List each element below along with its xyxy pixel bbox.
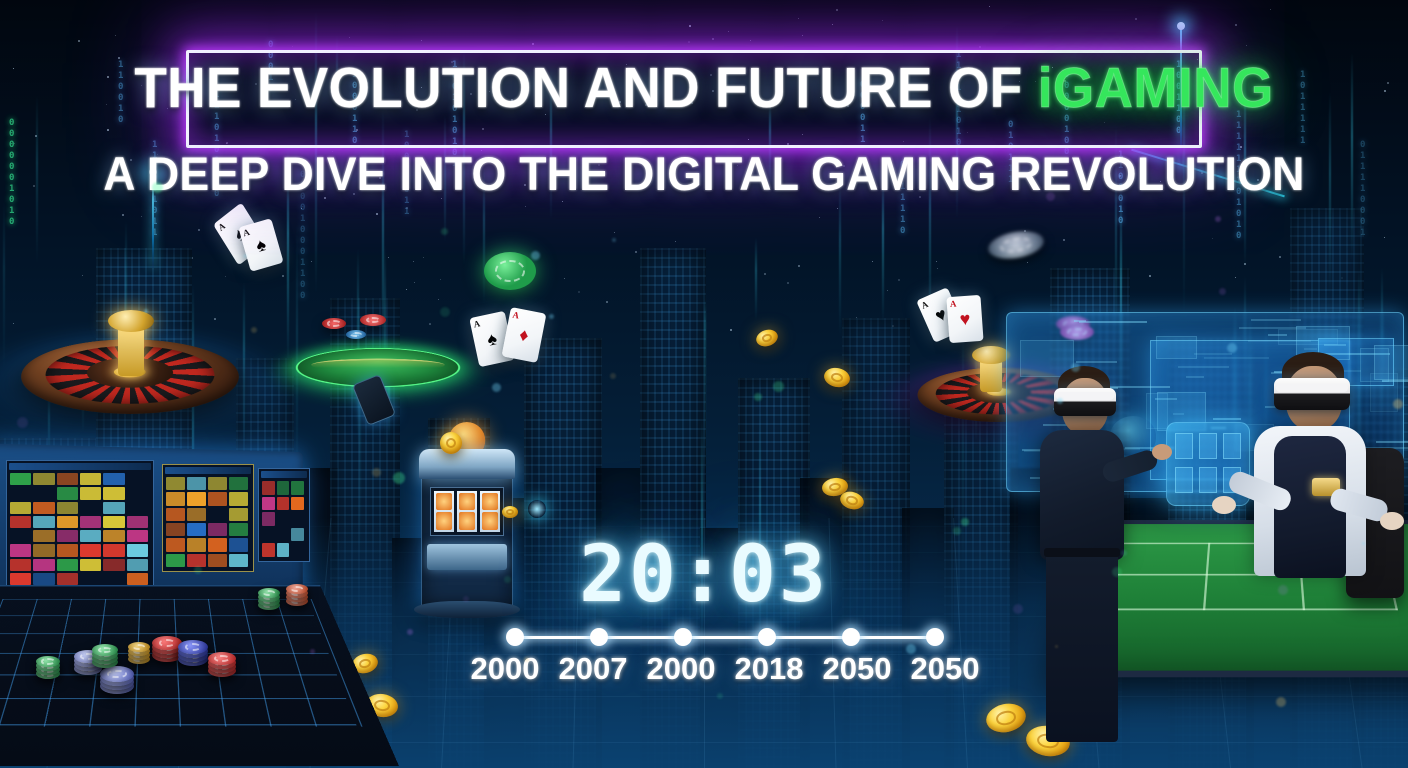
betting-grid-line [0, 615, 314, 616]
star [13, 68, 14, 69]
bokeh-dot [1055, 645, 1058, 648]
star [532, 43, 534, 45]
monitor-game-tile [10, 502, 31, 514]
monitor-game-tile [33, 473, 54, 485]
monitor-game-tile [291, 481, 304, 495]
holographic-panel-block [1156, 336, 1197, 359]
card-suit: ♠ [485, 329, 498, 349]
timeline-dot-1[interactable] [590, 628, 608, 646]
card-suit: ♥ [959, 310, 971, 329]
star [979, 46, 981, 48]
light-streak [3, 199, 5, 372]
star [882, 20, 883, 21]
card-suit: ♠ [254, 235, 268, 255]
bokeh-dot [1013, 604, 1023, 614]
star [798, 18, 799, 19]
bokeh-dot [1227, 343, 1237, 353]
roulette-turret-left [108, 310, 154, 332]
monitor-game-tile [33, 516, 54, 528]
bokeh-dot [1276, 697, 1286, 707]
slot-side-light [528, 500, 546, 518]
betting-grid-line [0, 698, 346, 699]
chip-stack-blue [178, 640, 208, 654]
bokeh-dot [1393, 399, 1403, 409]
bokeh-dot [754, 393, 762, 401]
star [688, 41, 690, 43]
poker-table-betting-arc [309, 358, 447, 371]
bokeh-dot [251, 327, 257, 333]
slot-reel [457, 491, 477, 532]
monitor-game-tile [80, 487, 101, 499]
bokeh-dot [1057, 398, 1063, 404]
chip-blue-table [346, 330, 366, 339]
betting-grid-line [276, 599, 317, 727]
holographic-text-line [1186, 376, 1204, 378]
monitor-game-tile [80, 473, 101, 485]
bokeh-dot [144, 309, 148, 313]
chip-red-table-2 [360, 314, 386, 326]
monitor-game-tile [291, 497, 304, 511]
bokeh-dot [407, 629, 413, 635]
bokeh-dot [961, 518, 969, 526]
star [750, 40, 751, 41]
chip-gold-small [128, 642, 150, 652]
monitor-game-tile [262, 497, 275, 511]
betting-grid-line [242, 599, 272, 727]
bokeh-dot [17, 417, 28, 428]
chip-stack-green [92, 644, 118, 656]
page-subtitle: A DEEP DIVE INTO THE DIGITAL GAMING REVO… [35, 150, 1373, 197]
page-title: THE EVOLUTION AND FUTURE OF iGAMING [49, 60, 1358, 117]
holographic-text-line [1251, 319, 1301, 321]
timeline-label-0: 2000 [471, 650, 540, 688]
bokeh-dot [1112, 567, 1122, 577]
vr-headset-strap [1056, 392, 1114, 400]
timeline-label-1: 2007 [559, 650, 628, 688]
timeline-dot-0[interactable] [506, 628, 524, 646]
monitor-game-tile [229, 492, 248, 505]
light-streak [755, 237, 757, 321]
betting-grid-line [0, 724, 357, 725]
star [689, 25, 691, 27]
monitor-game-tile [208, 523, 227, 536]
monitor-game-tile [187, 523, 206, 536]
star [1387, 82, 1389, 84]
dealer-hand-right [1380, 512, 1404, 530]
slot-reel [480, 491, 500, 532]
timeline-dot-4[interactable] [842, 628, 860, 646]
timeline-label-3: 2018 [735, 650, 804, 688]
monitor-game-tile [229, 523, 248, 536]
holographic-text-line [1194, 353, 1232, 355]
star [1384, 90, 1386, 92]
star [1270, 9, 1271, 10]
timeline-dot-2[interactable] [674, 628, 692, 646]
monitor-game-tile [80, 516, 101, 528]
evolution-timeline [505, 628, 945, 646]
vr-dealer-right [1234, 344, 1384, 704]
star [832, 24, 833, 25]
monitor-game-tile [187, 477, 206, 490]
bokeh-dot [612, 238, 616, 242]
bokeh-dot [463, 596, 469, 602]
binary-code-column: 0 0 0 0 0 0 1 0 1 0 [9, 118, 23, 228]
monitor-game-tile [208, 477, 227, 490]
bokeh-dot [243, 254, 247, 258]
star [349, 37, 350, 38]
bokeh-dot [1121, 550, 1127, 556]
bokeh-dot [773, 381, 784, 392]
star [712, 38, 714, 40]
monitor-game-tile [277, 497, 290, 511]
bokeh-dot [440, 307, 450, 317]
card-rank: A [473, 319, 481, 329]
bokeh-dot [1071, 363, 1080, 372]
card-rank: A [242, 228, 251, 238]
star [728, 31, 729, 32]
bokeh-dot [531, 251, 540, 260]
monitor-game-tile [277, 481, 290, 495]
monitor-game-tile [127, 516, 148, 528]
gold-coin [502, 506, 518, 518]
chip-green-small [36, 656, 60, 667]
monitor-game-tile [166, 508, 185, 521]
chip-green-floating [484, 252, 536, 290]
monitor-game-tile [262, 481, 275, 495]
card-rank: A [950, 300, 957, 309]
monitor-game-tile [57, 473, 78, 485]
monitor-game-tile [57, 487, 78, 499]
monitor-game-tile [103, 516, 124, 528]
star [118, 57, 120, 59]
monitor-game-tile [57, 502, 78, 514]
bokeh-dot [953, 527, 961, 535]
monitor-game-tile [208, 492, 227, 505]
monitor-game-tile [166, 492, 185, 505]
bokeh-dot [492, 383, 501, 392]
light-streak [704, 287, 706, 472]
monitor-game-tile [262, 512, 275, 526]
star [802, 35, 803, 36]
monitor-game-tile [10, 473, 31, 485]
monitor-game-tile [10, 516, 31, 528]
title-highlight-text: iGAMING [1038, 56, 1274, 120]
monitor-game-tile [166, 523, 185, 536]
bokeh-dot [194, 566, 202, 574]
bokeh-dot [610, 373, 616, 379]
digital-clock-display: 20:03 [0, 536, 1408, 614]
monitor-header-bar [261, 471, 307, 478]
bokeh-dot [310, 649, 315, 654]
slot-machine-reels [430, 487, 505, 536]
chip-stack-red-2 [208, 652, 236, 665]
gold-coin [440, 432, 462, 454]
monitor-game-tile [229, 477, 248, 490]
star [292, 46, 293, 47]
timeline-label-2: 2000 [647, 650, 716, 688]
timeline-axis-line [515, 636, 935, 639]
star [989, 6, 990, 7]
card-suit: ♦ [518, 325, 530, 344]
slot-reel [434, 491, 454, 532]
bokeh-dot [372, 468, 381, 477]
bokeh-dot [1278, 585, 1288, 595]
neon-spire-tip [1177, 22, 1185, 30]
betting-grid-line [0, 633, 321, 634]
card-rank: A [217, 221, 227, 233]
hero-banner: 0 0 0 0 0 0 1 0 1 01 1 0 0 1 0 1 1 0 0 0… [0, 0, 1408, 768]
monitor-header-bar [165, 467, 251, 474]
card-rank: A [920, 300, 930, 311]
monitor-game-tile [166, 477, 185, 490]
timeline-dot-5[interactable] [926, 628, 944, 646]
bokeh-dot [549, 314, 554, 319]
chip-stack-white-blue [100, 666, 134, 682]
timeline-dot-3[interactable] [758, 628, 776, 646]
monitor-game-tile [187, 508, 206, 521]
vr-headset-dealer [1274, 378, 1350, 410]
star [1135, 18, 1137, 20]
betting-grid-line [0, 599, 38, 727]
card-rank: A [512, 311, 520, 321]
bokeh-dot [1219, 288, 1226, 295]
holographic-text-line [1178, 366, 1229, 368]
bokeh-dot [1362, 542, 1365, 545]
star [836, 9, 838, 11]
bokeh-dot [441, 228, 448, 235]
star [421, 40, 422, 41]
monitor-game-tile [57, 516, 78, 528]
monitor-game-tile [103, 487, 124, 499]
monitor-game-tile [33, 502, 54, 514]
star [1246, 45, 1247, 46]
monitor-game-tile [229, 508, 248, 521]
timeline-label-5: 2050 [911, 650, 980, 688]
timeline-year-labels: 200020072000201820502050 [460, 650, 990, 690]
playing-card-ace-hearts: A ♥ [946, 295, 983, 343]
bokeh-dot [524, 657, 529, 662]
bokeh-dot [1215, 216, 1221, 222]
timeline-label-4: 2050 [823, 650, 892, 688]
bokeh-dot [393, 472, 405, 484]
bokeh-dot [504, 576, 511, 583]
holographic-text-line [1079, 321, 1147, 323]
star [78, 40, 80, 42]
player-hand [1152, 444, 1172, 460]
monitor-game-tile [187, 492, 206, 505]
slot-machine-hood [419, 449, 516, 479]
star [1235, 24, 1237, 26]
monitor-game-tile [103, 502, 124, 514]
monitor-game-tile [103, 473, 124, 485]
monitor-header-bar [9, 463, 151, 470]
bokeh-dot [152, 182, 163, 193]
bokeh-dot [906, 644, 916, 654]
chip-red-table [322, 318, 346, 329]
title-main-text: THE EVOLUTION AND FUTURE OF [134, 56, 1037, 120]
vr-headset-strap-dealer [1276, 384, 1348, 392]
bokeh-dot [717, 693, 723, 699]
bokeh-dot [1046, 192, 1055, 201]
star [115, 35, 116, 36]
dealer-hand-left [1212, 496, 1236, 514]
